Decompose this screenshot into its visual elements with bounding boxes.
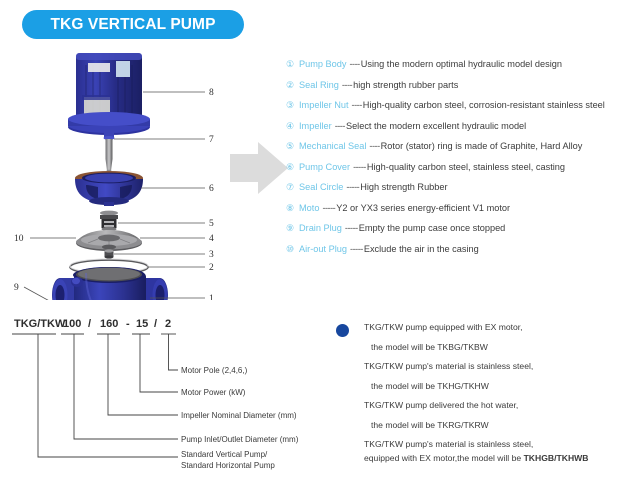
impeller-nut-part [105, 249, 114, 258]
callout-3: 3 [209, 250, 214, 260]
code-labels: Motor Pole (2,4,6,) Motor Power (kW) Imp… [181, 366, 299, 470]
pump-cover-part [75, 171, 143, 206]
feature-part-name: Drain Plug [299, 222, 342, 234]
model-variants-notes: TKG/TKW pump equipped with EX motor, the… [341, 322, 617, 472]
feature-part-name: Moto [299, 202, 319, 214]
feature-description: High-quality carbon steel, corrosion-res… [363, 99, 605, 111]
code-separator-3: / [154, 318, 157, 330]
feature-dash: ---- [342, 79, 352, 91]
feature-description: Using the modern optimal hydraulic model… [361, 58, 562, 70]
code-segment-power: 15 [136, 318, 148, 330]
label-motor-pole: Motor Pole (2,4,6,) [181, 366, 248, 375]
feature-dash: ----- [345, 222, 358, 234]
label-standard-vertical: Standard Vertical Pump/ [181, 450, 268, 459]
feature-number-icon: ⑦ [286, 181, 299, 193]
code-segment-pole: 2 [165, 318, 171, 330]
callout-5: 5 [209, 219, 214, 229]
shaft-part [104, 129, 115, 172]
callout-8: 8 [209, 88, 214, 98]
note-line: TKG/TKW pump's material is stainless ste… [341, 439, 617, 450]
note-line: TKG/TKW pump equipped with EX motor, [341, 322, 617, 333]
feature-number-icon: ⑧ [286, 202, 299, 214]
feature-item-10: ⑩ Air-out Plug ----- Exclude the air in … [286, 243, 617, 255]
note-line: TKG/TKW pump delivered the hot water, [341, 400, 617, 411]
note-line: TKG/TKW pump's material is stainless ste… [341, 361, 617, 372]
feature-item-3: ③ Impeller Nut ---- High-quality carbon … [286, 99, 617, 111]
feature-number-icon: ③ [286, 99, 299, 111]
feature-item-1: ① Pump Body ---- Using the modern optima… [286, 58, 617, 70]
page-title-banner: TKG VERTICAL PUMP [22, 10, 244, 39]
feature-item-6: ⑥ Pump Cover ----- High-quality carbon s… [286, 161, 617, 173]
note-line: the model will be TKRG/TKRW [341, 420, 617, 431]
code-separator-2: - [126, 318, 130, 330]
feature-part-name: Seal Ring [299, 79, 339, 91]
feature-number-icon: ⑤ [286, 140, 299, 152]
feature-item-4: ④ Impeller ---- Select the modern excell… [286, 120, 617, 132]
callout-1: 1 [209, 294, 214, 300]
code-segment-prefix: TKG/TKW [14, 318, 66, 330]
feature-description: high strength rubber parts [353, 79, 458, 91]
feature-dash: ----- [322, 202, 335, 214]
pump-body-part [52, 267, 168, 300]
page-title: TKG VERTICAL PUMP [50, 16, 215, 34]
impeller-part [76, 230, 142, 251]
feature-part-name: Mechanical Seal [299, 140, 366, 152]
feature-description: Empty the pump case once stopped [359, 222, 506, 234]
label-standard-horizontal: Standard Horizontal Pump [181, 461, 275, 470]
code-leader-lines [38, 334, 178, 457]
note-line: the model will be TKBG/TKBW [341, 342, 617, 353]
feature-part-name: Air-out Plug [299, 243, 347, 255]
feature-dash: ---- [369, 140, 379, 152]
feature-list: ① Pump Body ---- Using the modern optima… [286, 58, 617, 263]
feature-number-icon: ② [286, 79, 299, 91]
feature-description: Y2 or YX3 series energy-efficient V1 mot… [336, 202, 510, 214]
feature-description: Select the modern excellent hydraulic mo… [346, 120, 526, 132]
note-text: equipped with EX motor,the model will be [364, 453, 524, 463]
code-separator-1: / [88, 318, 91, 330]
feature-part-name: Seal Circle [299, 181, 343, 193]
callout-9: 9 [14, 283, 19, 293]
right-arrow-icon [228, 138, 290, 198]
feature-item-7: ⑦ Seal Circle ----- High strength Rubber [286, 181, 617, 193]
feature-dash: ---- [352, 99, 362, 111]
callout-4: 4 [209, 234, 214, 244]
feature-part-name: Pump Body [299, 58, 347, 70]
feature-number-icon: ① [286, 58, 299, 70]
feature-dash: ----- [353, 161, 366, 173]
note-model-bold: TKHGB/TKHWB [524, 453, 589, 463]
callout-2: 2 [209, 263, 214, 273]
feature-item-8: ⑧ Moto ----- Y2 or YX3 series energy-eff… [286, 202, 617, 214]
label-impeller-diameter: Impeller Nominal Diameter (mm) [181, 411, 297, 420]
feature-number-icon: ⑥ [286, 161, 299, 173]
feature-description: High strength Rubber [360, 181, 447, 193]
callout-numbers-left: 10 9 [14, 234, 24, 293]
callout-10: 10 [14, 234, 24, 244]
code-segment-impeller: 160 [100, 318, 118, 330]
feature-dash: ---- [335, 120, 345, 132]
bullet-icon [336, 324, 349, 337]
feature-number-icon: ⑨ [286, 222, 299, 234]
feature-item-2: ② Seal Ring ---- high strength rubber pa… [286, 79, 617, 91]
code-segment-inlet: 100 [63, 318, 81, 330]
feature-dash: ----- [350, 243, 363, 255]
feature-dash: ----- [346, 181, 359, 193]
model-code-naming-diagram: TKG/TKW 100 / 160 - 15 / 2 [0, 305, 320, 500]
model-code-row: TKG/TKW 100 / 160 - 15 / 2 [14, 318, 171, 330]
feature-number-icon: ⑩ [286, 243, 299, 255]
note-line: the model will be TKHG/TKHW [341, 381, 617, 392]
feature-dash: ---- [350, 58, 360, 70]
feature-item-9: ⑨ Drain Plug ----- Empty the pump case o… [286, 222, 617, 234]
label-motor-power: Motor Power (kW) [181, 388, 246, 397]
note-line-with-model: equipped with EX motor,the model will be… [341, 453, 617, 464]
feature-part-name: Impeller [299, 120, 332, 132]
feature-description: High-quality carbon steel, stainless ste… [367, 161, 565, 173]
feature-number-icon: ④ [286, 120, 299, 132]
callout-6: 6 [209, 184, 214, 194]
pump-exploded-diagram: 8 7 6 5 4 3 2 1 10 9 [0, 45, 240, 300]
feature-description: Exclude the air in the casing [364, 243, 479, 255]
label-inlet-diameter: Pump Inlet/Outlet Diameter (mm) [181, 435, 299, 444]
feature-part-name: Pump Cover [299, 161, 350, 173]
feature-description: Rotor (stator) ring is made of Graphite,… [381, 140, 583, 152]
callout-7: 7 [209, 135, 214, 145]
feature-part-name: Impeller Nut [299, 99, 349, 111]
motor-part [68, 53, 150, 135]
feature-item-5: ⑤ Mechanical Seal ---- Rotor (stator) ri… [286, 140, 617, 152]
callout-numbers-right: 8 7 6 5 4 3 2 1 [209, 88, 214, 300]
